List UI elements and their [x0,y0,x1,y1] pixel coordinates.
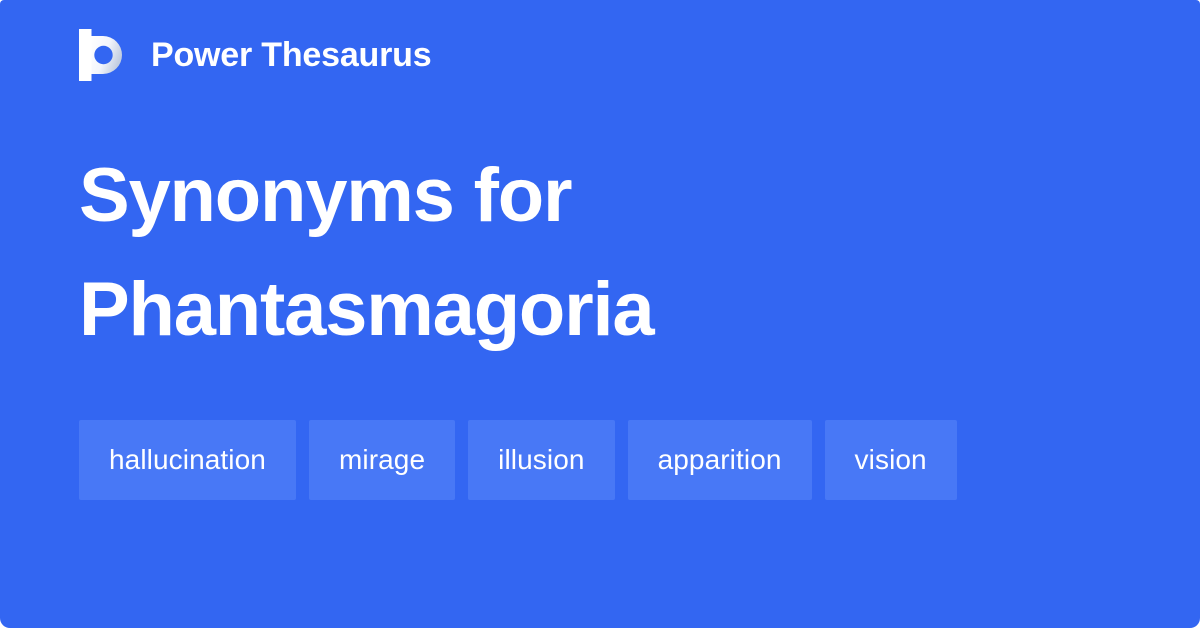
synonym-chip[interactable]: illusion [468,420,614,500]
synonyms-share-card: Power Thesaurus Synonyms for Phantasmago… [0,0,1200,628]
synonym-chip-list: hallucination mirage illusion apparition… [79,420,1121,500]
synonym-chip[interactable]: vision [825,420,957,500]
power-thesaurus-logo-icon [79,29,129,81]
page-title: Synonyms for Phantasmagoria [79,139,1119,367]
headline-line-1: Synonyms for [79,139,1119,253]
synonym-chip[interactable]: mirage [309,420,455,500]
brand-name: Power Thesaurus [151,38,431,72]
synonym-chip[interactable]: hallucination [79,420,296,500]
synonym-chip[interactable]: apparition [628,420,812,500]
headline-line-2: Phantasmagoria [79,253,1119,367]
brand-header[interactable]: Power Thesaurus [79,29,431,81]
